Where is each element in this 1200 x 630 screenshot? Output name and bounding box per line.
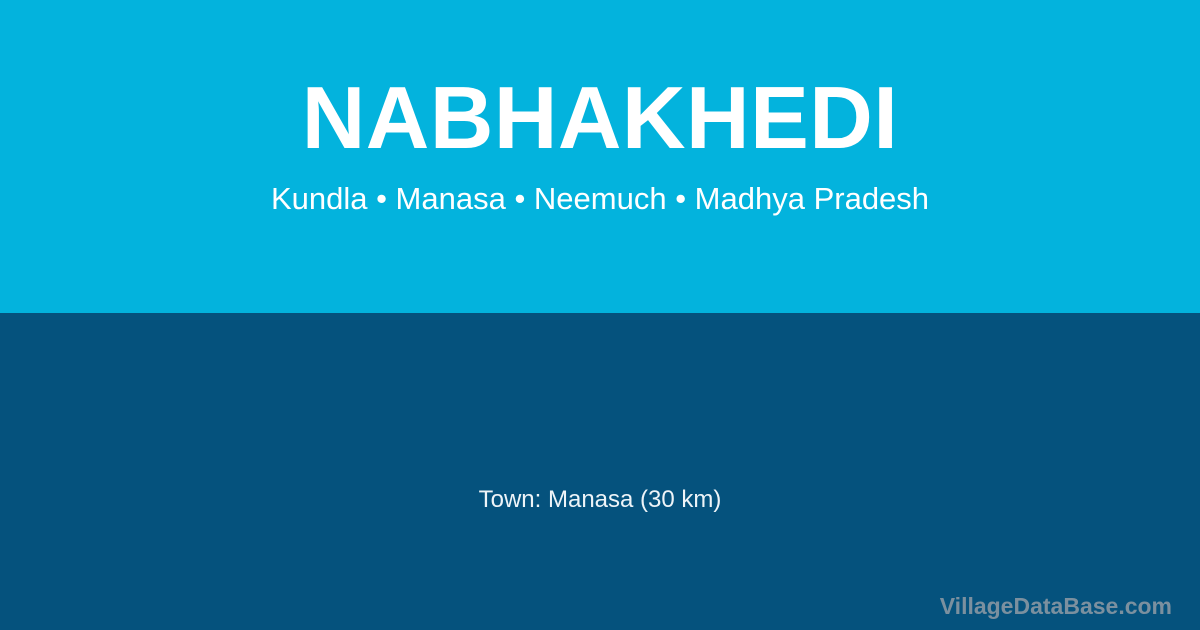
page-title: NABHAKHEDI <box>302 74 899 162</box>
hero-banner: NABHAKHEDI Kundla • Manasa • Neemuch • M… <box>0 0 1200 313</box>
breadcrumb: Kundla • Manasa • Neemuch • Madhya Prade… <box>271 183 929 214</box>
details-panel: Town: Manasa (30 km) <box>0 313 1200 630</box>
village-info-card: NABHAKHEDI Kundla • Manasa • Neemuch • M… <box>0 0 1200 630</box>
site-watermark: VillageDataBase.com <box>940 595 1172 618</box>
nearest-town-text: Town: Manasa (30 km) <box>0 488 1200 512</box>
